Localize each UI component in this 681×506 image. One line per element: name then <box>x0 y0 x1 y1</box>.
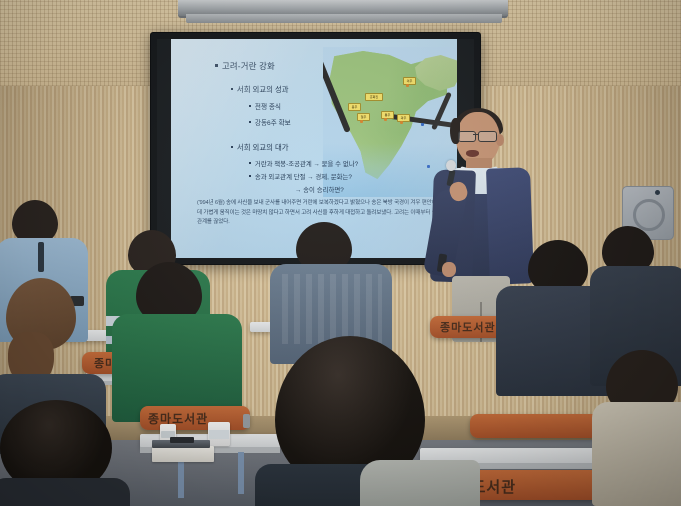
audience-member-front-left <box>0 400 120 506</box>
torso <box>0 478 130 506</box>
chair-label: 종마도서관 <box>148 410 208 427</box>
glasses-bridge-icon <box>473 134 479 135</box>
audience-member-front-right-shoulder <box>430 440 550 506</box>
bullet-icon <box>215 64 218 67</box>
slide-section2-point-0: 거란과 책봉-조공관계 → 묻을 수 없나? <box>255 161 358 168</box>
bullet-square-icon <box>249 121 251 123</box>
chair-clip <box>243 414 250 428</box>
map-marker-2: 용주 <box>348 103 361 111</box>
slide-section2-point-1: 송과 외교관계 단절 → 경제, 문화는? <box>255 174 352 181</box>
bullet-square-icon <box>249 105 251 107</box>
shirt-pattern <box>282 274 382 344</box>
smartphone-icon <box>170 437 194 443</box>
bullet-square-icon <box>249 162 251 164</box>
slide-section2-point-1-row: 송과 외교관계 단절 → 경제, 문화는? <box>249 172 352 181</box>
audience-member-green-hoodie <box>120 262 240 412</box>
slide-section1-point-1-row: 강동6주 확보 <box>249 117 291 127</box>
slide-section2-point-0-row: 거란과 책봉-조공관계 → 묻을 수 없나? <box>249 159 358 168</box>
slide-section1-point-1: 강동6주 확보 <box>255 120 291 127</box>
presenter-mouth <box>466 150 479 157</box>
slide-title-row: 고려-거란 강화 <box>215 60 275 72</box>
chair-front-left: 종마도서관 <box>140 406 250 430</box>
glasses-icon <box>478 131 497 142</box>
slide-section1-point-0-row: 전쟁 종식 <box>249 101 281 111</box>
slide-section2-point-2: → 송이 승리하면? <box>295 187 344 194</box>
map-marker-1: 흥화진 <box>365 93 383 101</box>
torso <box>592 402 681 506</box>
desk-leg <box>238 452 244 494</box>
map-marker-dot-3 <box>360 120 363 123</box>
cup-sleeve-2 <box>209 430 229 439</box>
slide-section2-heading: 서희 외교의 대가 <box>237 143 289 152</box>
presenter-ear <box>496 134 504 146</box>
glasses-icon <box>458 131 476 142</box>
projector-screen-housing-lip <box>186 14 502 23</box>
chair-label: 종마도서관 <box>440 319 496 335</box>
slide-title: 고려-거란 강화 <box>222 61 275 71</box>
slide-section2-heading-row: 서희 외교의 대가 <box>231 142 289 153</box>
lecture-hall-photo: 관계자 의주 흥화진 용주 철주 통주 <box>0 0 681 506</box>
map-marker-dot-5 <box>400 121 403 124</box>
bullet-square-icon <box>231 88 233 90</box>
map-marker-0: 의주 <box>403 77 416 85</box>
audience-member-center-dark <box>276 222 396 352</box>
bullet-square-icon <box>249 175 251 177</box>
slide-section1-point-0: 전쟁 종식 <box>255 104 281 111</box>
map-marker-dot-0 <box>406 84 409 87</box>
slide-section1-heading: 서희 외교의 성과 <box>237 85 289 94</box>
presenter-hand-right <box>442 262 456 277</box>
map-marker-4: 통주 <box>381 111 394 119</box>
speaker-led-icon <box>655 190 660 195</box>
bullet-square-icon <box>231 146 233 148</box>
map-marker-3: 철주 <box>357 113 370 121</box>
microphone-head-icon <box>446 160 456 171</box>
map-marker-dot-4 <box>384 118 387 121</box>
map-marker-5: 곽주 <box>397 114 410 122</box>
slide-section2-point-2-row: → 송이 승리하면? <box>295 185 344 194</box>
book-icon <box>152 446 214 462</box>
shoulder <box>360 460 480 506</box>
audience-member-front-hoodie <box>612 396 681 506</box>
lanyard <box>38 242 44 272</box>
slide-section1-heading-row: 서희 외교의 성과 <box>231 84 289 95</box>
